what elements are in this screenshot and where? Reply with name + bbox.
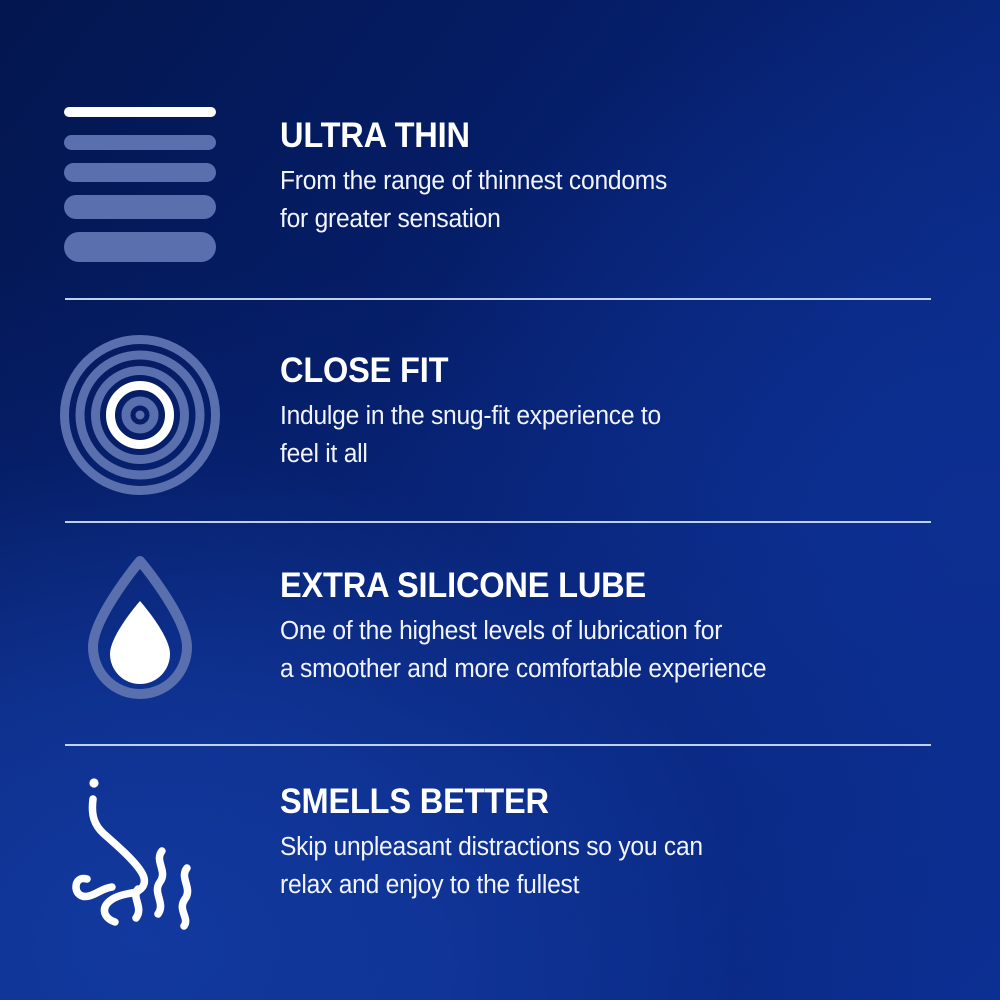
feature-row-smells-better: SMELLS BETTER Skip unpleasant distractio…: [0, 768, 1000, 933]
feature-description-line-2: for greater sensation: [280, 200, 936, 238]
feature-title: EXTRA SILICONE LUBE: [280, 568, 912, 605]
feature-description: Indulge in the snug-fit experience to fe…: [280, 397, 936, 474]
droplet-fill: [110, 601, 170, 684]
feature-description-line-2: relax and enjoy to the fullest: [280, 866, 936, 904]
feature-description-line-1: Indulge in the snug-fit experience to: [280, 397, 936, 435]
feature-title: CLOSE FIT: [280, 353, 912, 390]
feature-title: ULTRA THIN: [280, 118, 912, 155]
feature-description-line-1: Skip unpleasant distractions so you can: [280, 828, 936, 866]
feature-row-close-fit: CLOSE FIT Indulge in the snug-fit experi…: [0, 330, 1000, 500]
section-divider: [65, 521, 931, 523]
bar-2: [64, 163, 216, 182]
section-divider: [65, 744, 931, 746]
feature-icon-cell: [0, 100, 280, 268]
feature-description: From the range of thinnest condoms for g…: [280, 162, 936, 239]
feature-icon-cell: [0, 550, 280, 705]
feature-text-cell: CLOSE FIT Indulge in the snug-fit experi…: [280, 330, 1000, 473]
water-droplet-icon: [79, 553, 201, 703]
feature-description-line-2: a smoother and more comfortable experien…: [280, 650, 936, 688]
feature-icon-cell: [0, 768, 280, 933]
feature-text-cell: SMELLS BETTER Skip unpleasant distractio…: [280, 768, 1000, 904]
nose-base-path: [104, 893, 132, 922]
stacked-thin-bars-icon: [64, 107, 216, 262]
bar-3: [64, 195, 216, 219]
feature-row-extra-silicone-lube: EXTRA SILICONE LUBE One of the highest l…: [0, 550, 1000, 705]
bar-highlight: [64, 107, 216, 117]
feature-description-line-2: feel it all: [280, 435, 936, 473]
nostril-path: [76, 878, 112, 896]
feature-text-cell: ULTRA THIN From the range of thinnest co…: [280, 100, 1000, 238]
feature-list-panel: ULTRA THIN From the range of thinnest co…: [0, 0, 1000, 1000]
bar-1: [64, 135, 216, 150]
feature-text-cell: EXTRA SILICONE LUBE One of the highest l…: [280, 550, 1000, 688]
nose-smell-waves-icon: [70, 771, 210, 931]
scent-wave-1: [157, 851, 162, 914]
bar-4: [64, 232, 216, 262]
section-divider: [65, 298, 931, 300]
feature-description-line-1: One of the highest levels of lubrication…: [280, 612, 936, 650]
feature-icon-cell: [0, 330, 280, 500]
nose-top-dot: [89, 778, 98, 787]
nose-bridge-path: [92, 799, 144, 893]
concentric-rings-icon: [60, 335, 220, 495]
feature-description: One of the highest levels of lubrication…: [280, 612, 936, 689]
scent-wave-2: [136, 889, 139, 918]
scent-wave-3: [182, 868, 187, 926]
feature-title: SMELLS BETTER: [280, 784, 912, 821]
feature-description-line-1: From the range of thinnest condoms: [280, 162, 936, 200]
feature-description: Skip unpleasant distractions so you can …: [280, 828, 936, 905]
feature-row-ultra-thin: ULTRA THIN From the range of thinnest co…: [0, 100, 1000, 268]
